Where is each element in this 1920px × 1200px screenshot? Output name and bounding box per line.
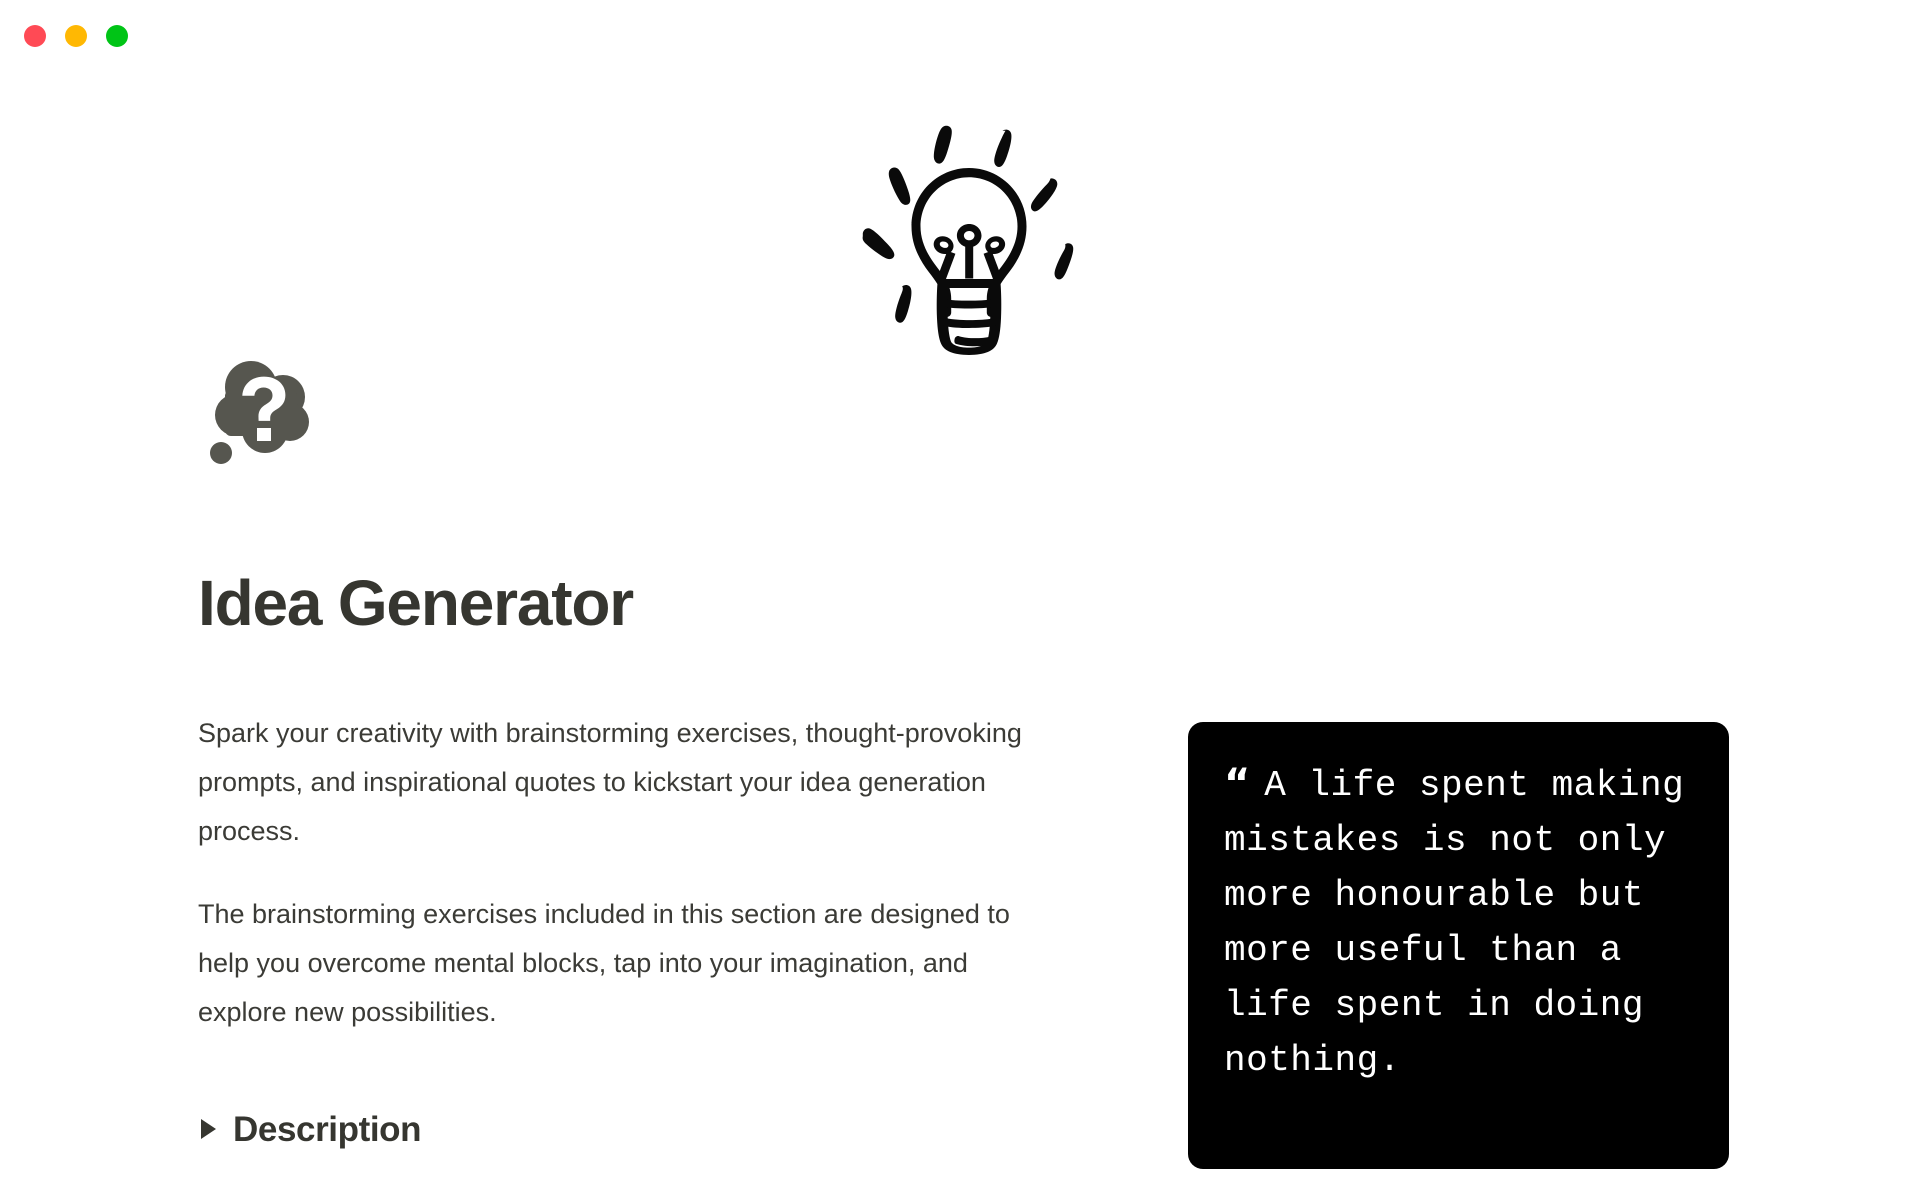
quote-text: “ A life spent making mistakes is not on… [1224,758,1695,1088]
app-page: Idea Generator Spark your creativity wit… [0,0,1920,1200]
quote-body: A life spent making mistakes is not only… [1224,765,1706,1081]
description-disclosure-label: Description [233,1112,421,1147]
main-content: Idea Generator Spark your creativity wit… [198,570,1098,1147]
page-title: Idea Generator [198,570,1098,638]
close-window-icon[interactable] [24,25,46,47]
window-titlebar [0,0,1920,72]
window-controls [24,25,128,47]
triangle-right-icon[interactable] [201,1119,216,1139]
intro-paragraph: Spark your creativity with brainstorming… [198,709,1088,856]
detail-paragraph: The brainstorming exercises included in … [198,890,1058,1037]
quote-mark-icon: “ [1224,761,1264,807]
minimize-window-icon[interactable] [65,25,87,47]
quote-card: “ A life spent making mistakes is not on… [1188,722,1729,1169]
thought-bubble-question-icon [205,352,323,470]
lightbulb-icon [845,110,1095,375]
description-disclosure[interactable]: Description [198,1112,1098,1147]
maximize-window-icon[interactable] [106,25,128,47]
